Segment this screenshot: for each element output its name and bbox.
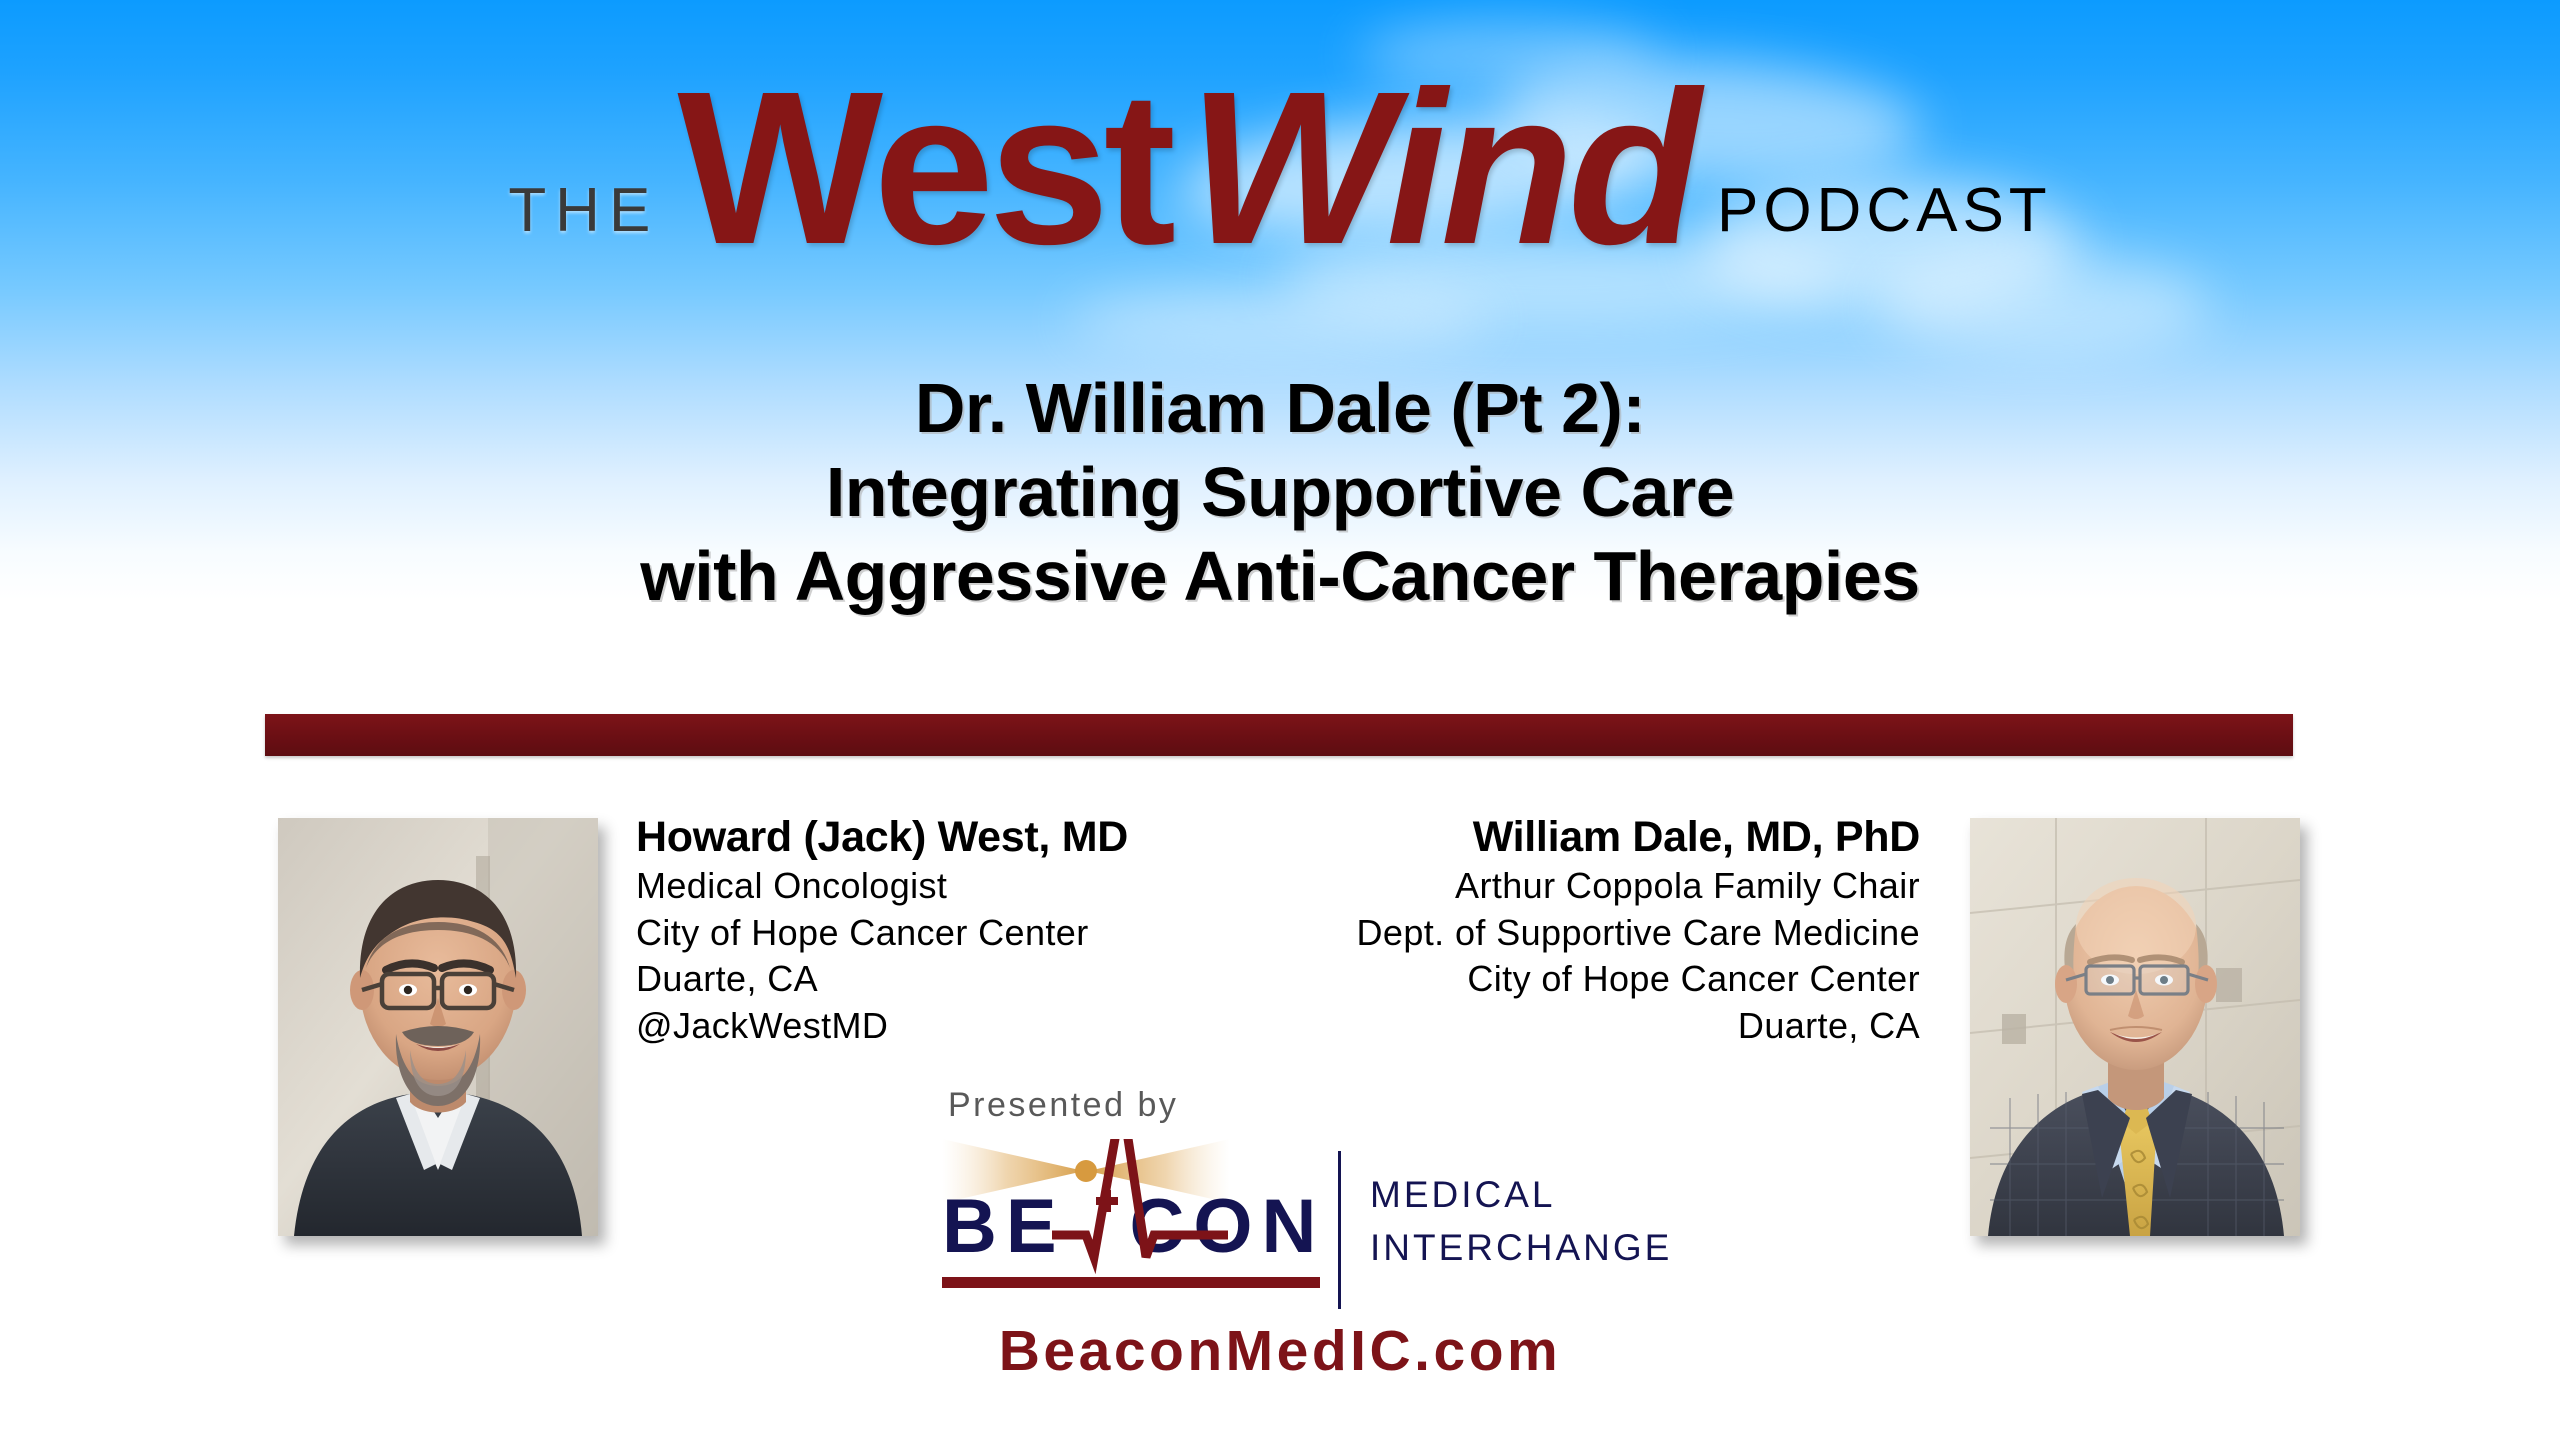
speaker-detail-right-3: Duarte, CA <box>1300 1003 1920 1050</box>
logo-vertical-divider <box>1338 1151 1341 1309</box>
episode-title: Dr. William Dale (Pt 2): Integrating Sup… <box>0 366 2560 618</box>
speaker-name-left: Howard (Jack) West, MD <box>636 812 1256 863</box>
masthead-wind: Wind <box>1188 60 1695 278</box>
beacon-medical-interchange-logo[interactable]: BEACON MEDICAL INTERCHANGE <box>930 1129 1630 1329</box>
show-masthead: THE West Wind PODCAST <box>0 18 2560 278</box>
masthead-west: West <box>677 60 1170 278</box>
website-url[interactable]: BeaconMedIC.com <box>0 1318 2560 1384</box>
logo-tagline-line-2: INTERCHANGE <box>1370 1222 1672 1275</box>
episode-title-line-2: Integrating Supportive Care <box>0 450 2560 534</box>
speaker-detail-right-2: City of Hope Cancer Center <box>1300 956 1920 1003</box>
speaker-detail-left-0: Medical Oncologist <box>636 863 1256 910</box>
speaker-detail-left-2: Duarte, CA <box>636 956 1256 1003</box>
masthead-podcast: PODCAST <box>1717 180 2052 278</box>
episode-title-line-1: Dr. William Dale (Pt 2): <box>0 366 2560 450</box>
speaker-name-right: William Dale, MD, PhD <box>1300 812 1920 863</box>
presented-by-label: Presented by <box>930 1086 1630 1125</box>
podcast-title-card: THE West Wind PODCAST Dr. William Dale (… <box>0 0 2560 1440</box>
masthead-the: THE <box>508 180 659 278</box>
headshot-william-dale <box>1970 818 2300 1236</box>
speaker-photo-right <box>1970 818 2300 1236</box>
speaker-handle-left: @JackWestMD <box>636 1003 1256 1050</box>
sponsor-block: Presented by <box>930 1086 1630 1329</box>
speaker-detail-right-0: Arthur Coppola Family Chair <box>1300 863 1920 910</box>
cloud-wisp <box>1070 285 1490 355</box>
speaker-detail-right-1: Dept. of Supportive Care Medicine <box>1300 910 1920 957</box>
episode-title-line-3: with Aggressive Anti-Cancer Therapies <box>0 534 2560 618</box>
headshot-howard-jack-west <box>278 818 598 1236</box>
speaker-photo-left <box>278 818 598 1236</box>
beacon-wordmark-row: BEACON MEDICAL INTERCHANGE <box>930 1185 1630 1305</box>
maroon-divider-bar <box>265 714 2293 756</box>
logo-tagline: MEDICAL INTERCHANGE <box>1370 1169 1672 1274</box>
speaker-info-right: William Dale, MD, PhD Arthur Coppola Fam… <box>1300 812 1920 1050</box>
speaker-info-left: Howard (Jack) West, MD Medical Oncologis… <box>636 812 1256 1050</box>
logo-tagline-line-1: MEDICAL <box>1370 1169 1672 1222</box>
speaker-detail-left-1: City of Hope Cancer Center <box>636 910 1256 957</box>
beacon-word-be: BE <box>942 1184 1066 1269</box>
